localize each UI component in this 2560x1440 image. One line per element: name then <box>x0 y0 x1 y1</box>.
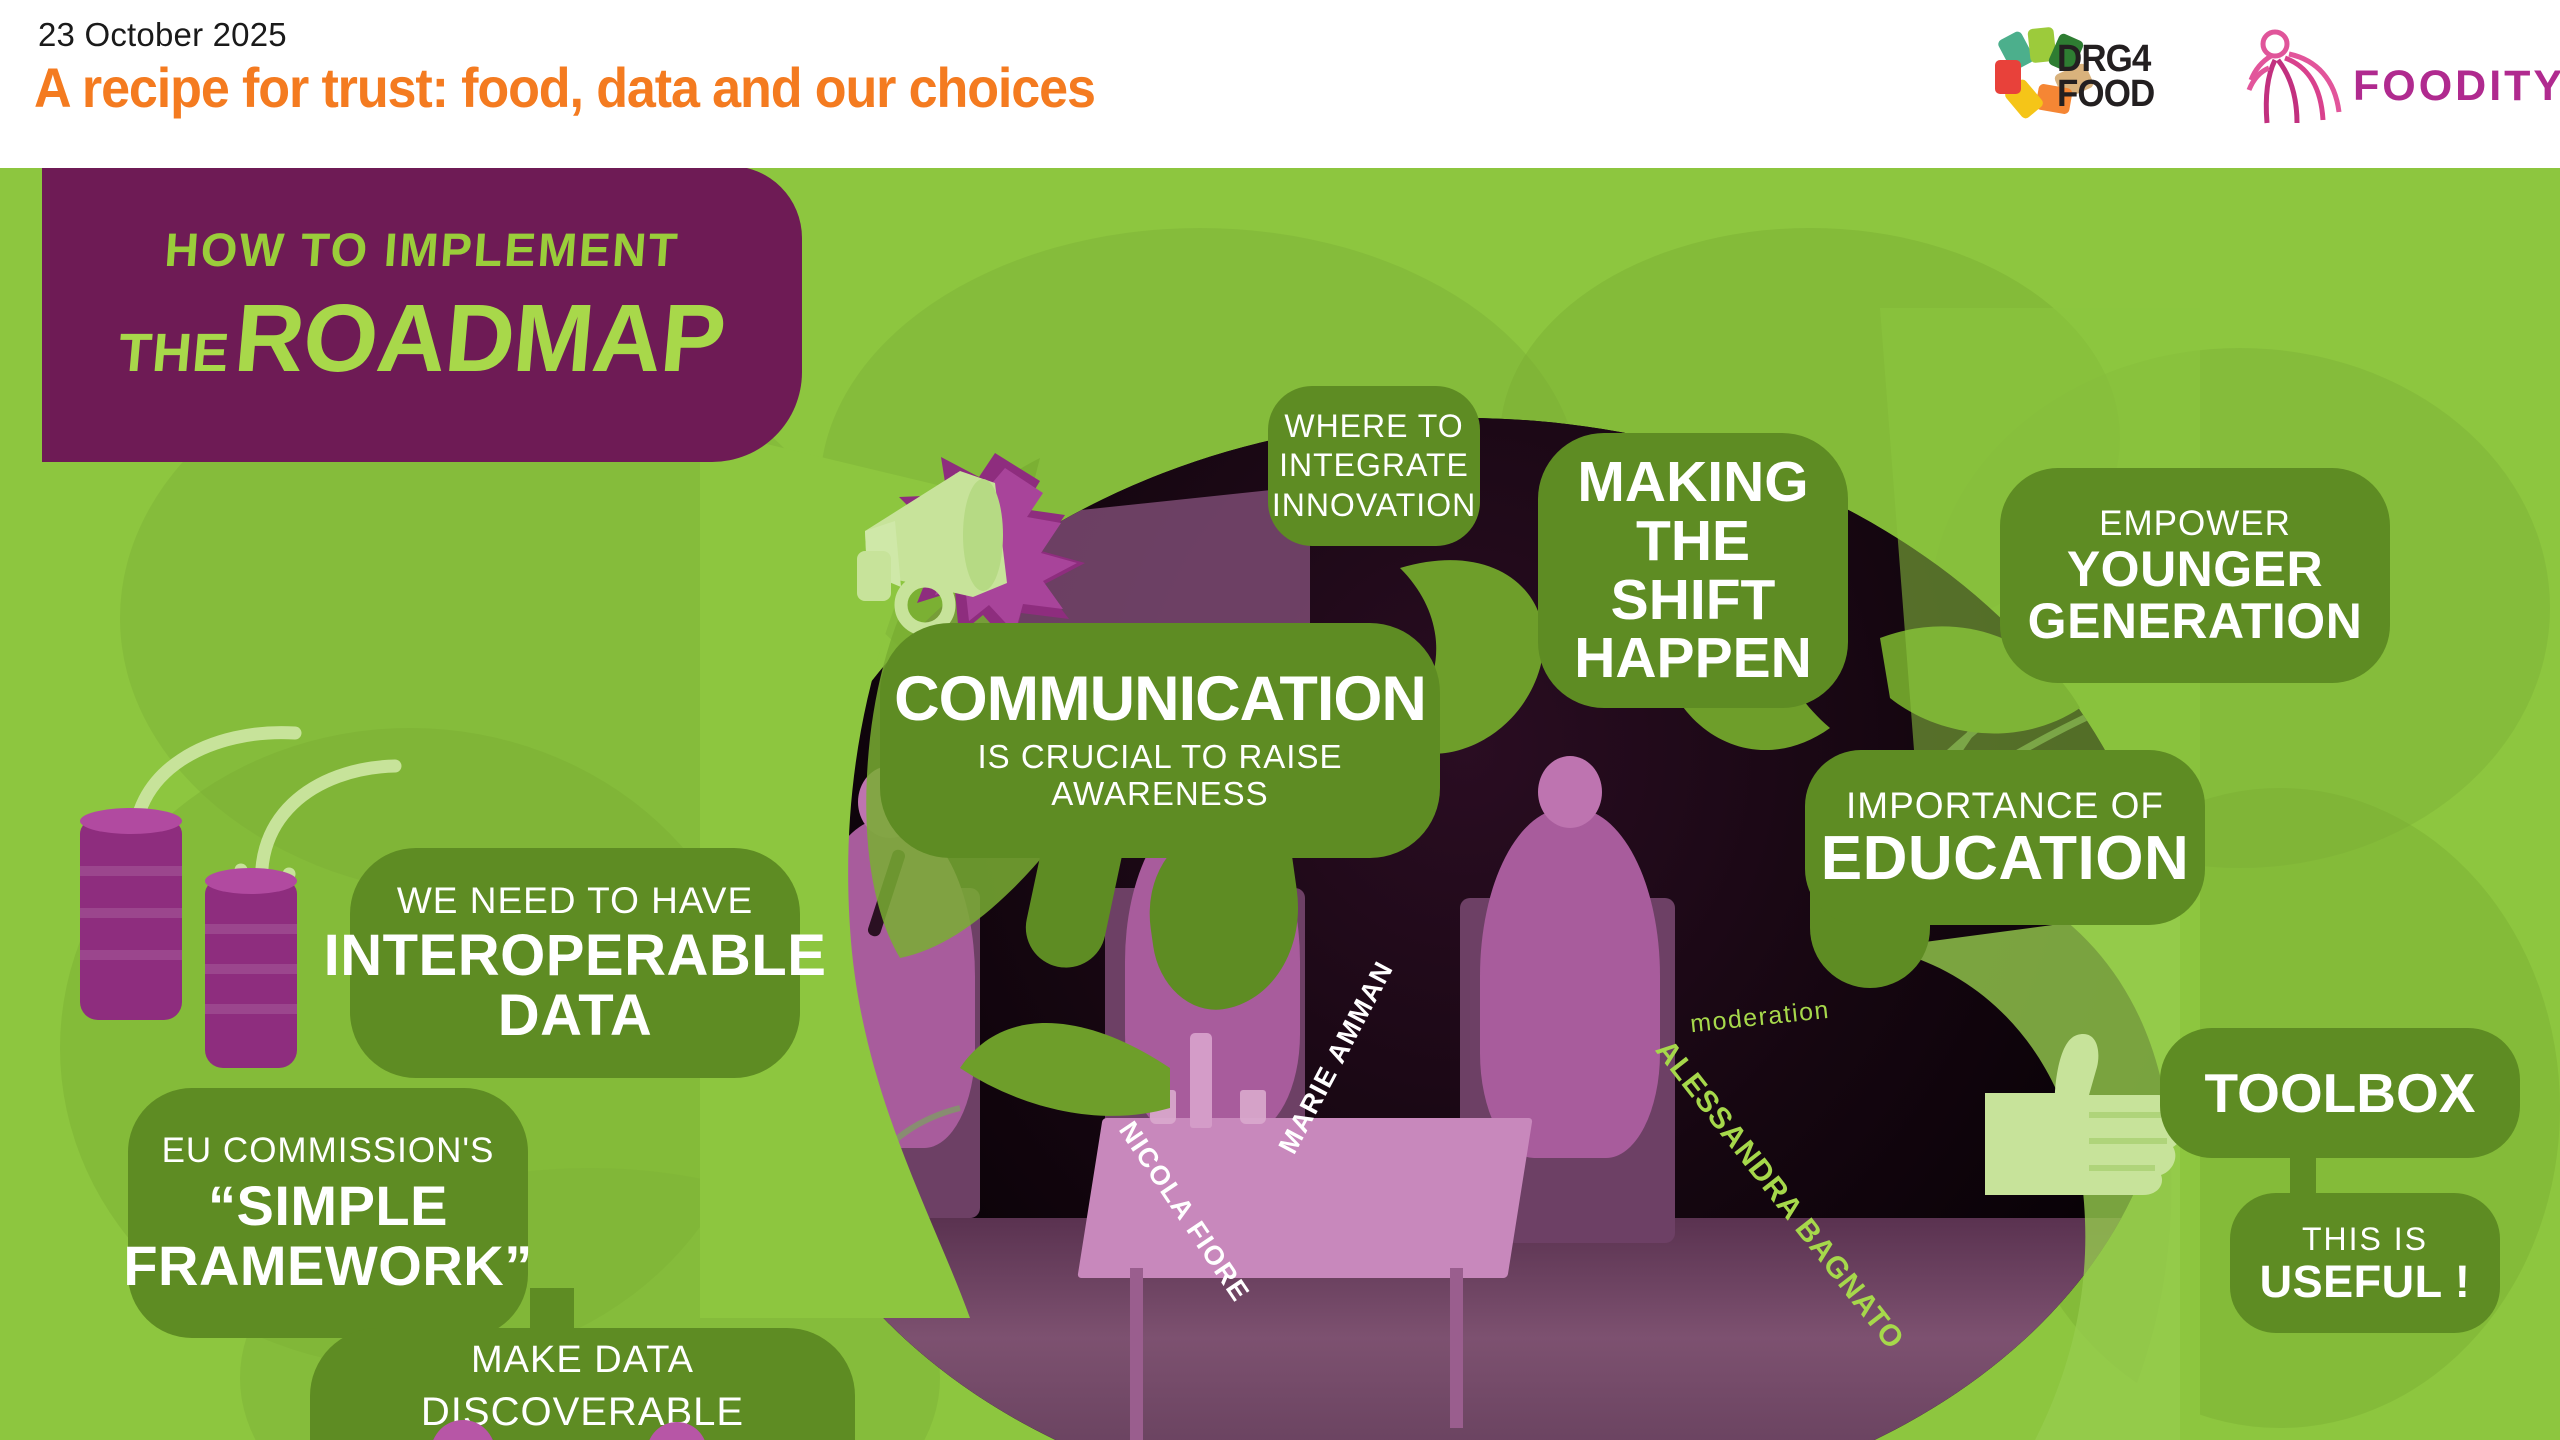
event-date: 23 October 2025 <box>38 16 287 54</box>
roadmap-line2: THE ROADMAP <box>37 284 807 394</box>
bubble-useful-headline: USEFUL ! <box>2260 1259 2471 1304</box>
network-nodes-icon <box>415 1408 745 1440</box>
database-cylinder-icon <box>80 808 182 1020</box>
header-bar: 23 October 2025 A recipe for trust: food… <box>0 0 2560 168</box>
bubble-simple-headline: “SIMPLE FRAMEWORK” <box>123 1176 532 1296</box>
bubble-useful[interactable]: THIS IS USEFUL ! <box>2230 1193 2500 1333</box>
bubble-simple-framework[interactable]: EU COMMISSION'S “SIMPLE FRAMEWORK” <box>128 1088 528 1338</box>
bubble-empower-younger[interactable]: EMPOWER YOUNGER GENERATION <box>2000 468 2390 683</box>
bubble-empower-sub: EMPOWER <box>2099 504 2291 543</box>
foodity-logo: FOODITY <box>2245 28 2545 133</box>
roadmap-the: THE <box>116 323 232 383</box>
bubble-useful-sub: THIS IS <box>2302 1222 2428 1258</box>
illustration-board: HOW TO IMPLEMENT THE ROADMAP <box>0 168 2560 1440</box>
bubble-education[interactable]: IMPORTANCE OF EDUCATION <box>1805 750 2205 925</box>
roadmap-word: ROADMAP <box>231 285 729 392</box>
page-title: A recipe for trust: food, data and our c… <box>34 60 1095 116</box>
bubble-education-headline: EDUCATION <box>1821 828 2189 890</box>
bubble-making-shift[interactable]: MAKING THE SHIFT HAPPEN <box>1538 433 1848 708</box>
bubble-communication[interactable]: COMMUNICATION IS CRUCIAL TO RAISE AWAREN… <box>880 623 1440 858</box>
bubble-communication-sub: IS CRUCIAL TO RAISE AWARENESS <box>978 739 1343 813</box>
person-wheat-icon <box>2245 28 2355 128</box>
foodity-wordmark: FOODITY <box>2353 62 2560 111</box>
bubble-interoperable-data[interactable]: WE NEED TO HAVE INTEROPERABLE DATA <box>350 848 800 1078</box>
drg4food-logo: DRG4 FOOD <box>1985 24 2185 134</box>
bubble-make-data-sub: MAKE DATA <box>471 1339 694 1382</box>
bubble-toolbox-headline: TOOLBOX <box>2205 1066 2476 1121</box>
bubble-toolbox[interactable]: TOOLBOX <box>2160 1028 2520 1158</box>
bubble-where-innovation[interactable]: WHERE TO INTEGRATE INNOVATION <box>1268 386 1480 546</box>
roadmap-banner: HOW TO IMPLEMENT THE ROADMAP <box>42 168 802 462</box>
database-cylinder-icon <box>205 868 297 1068</box>
poster-canvas: 23 October 2025 A recipe for trust: food… <box>0 0 2560 1440</box>
bubble-interoperable-headline: INTEROPERABLE DATA <box>324 926 827 1045</box>
roadmap-line1: HOW TO IMPLEMENT <box>40 222 804 277</box>
bubble-communication-headline: COMMUNICATION <box>894 668 1426 731</box>
bubble-education-sub: IMPORTANCE OF <box>1846 785 2164 826</box>
bubble-where-text: WHERE TO INTEGRATE INNOVATION <box>1272 407 1476 524</box>
drg4food-wordmark: DRG4 FOOD <box>2057 42 2154 112</box>
bubble-making-shift-headline: MAKING THE SHIFT HAPPEN <box>1560 453 1826 688</box>
bubble-interoperable-sub: WE NEED TO HAVE <box>397 880 753 921</box>
bubble-simple-sub: EU COMMISSION'S <box>162 1131 495 1170</box>
bubble-empower-headline: YOUNGER GENERATION <box>2028 543 2363 647</box>
